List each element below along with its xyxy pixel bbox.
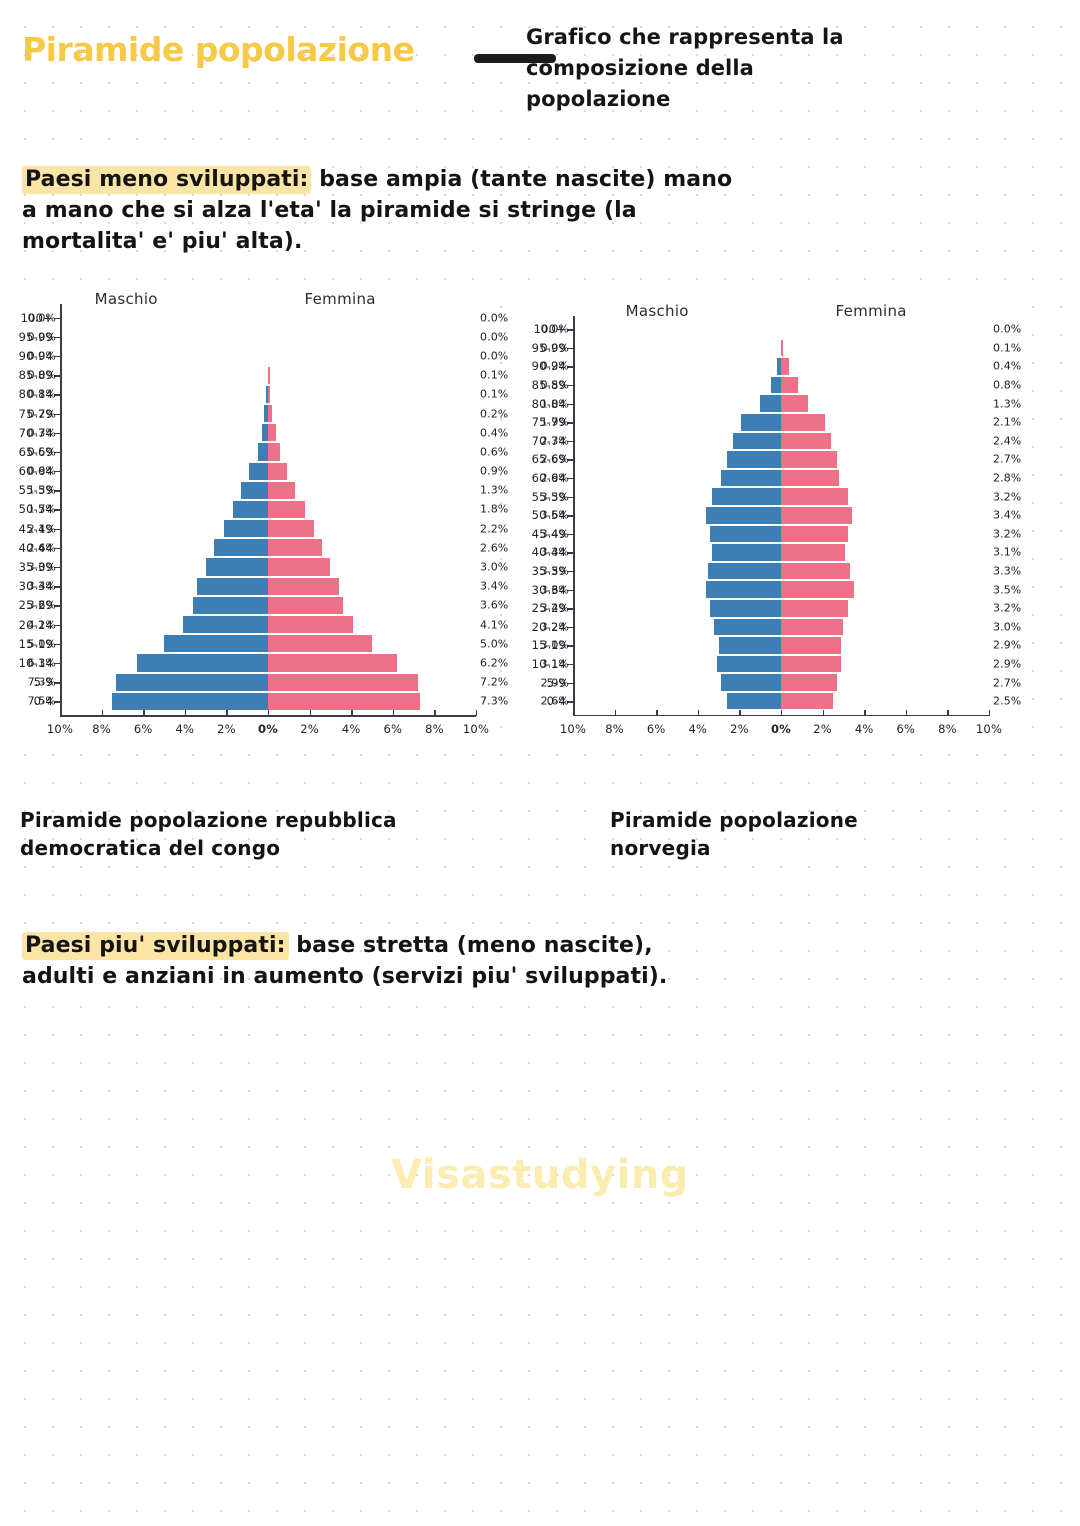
bar-female: 2.1% [781,413,825,432]
female-half: 3.4% [781,506,989,525]
bar-value-label-male: 2.6% [541,695,573,708]
bar-male: 3.0% [206,557,268,576]
bar-value-label-male: 0.0% [541,341,573,354]
female-half: 2.9% [781,655,989,674]
bar-male: 4.1% [183,615,268,634]
bar-value-label-male: 4.1% [28,618,60,631]
x-axis-tick [185,710,186,716]
female-half: 0.1% [781,339,989,358]
bar-value-label-male: 3.4% [541,602,573,615]
pyramid-row: 40-442.6%2.6% [60,538,476,557]
female-half: 0.0% [268,346,476,365]
bar-female: 2.9% [781,636,841,655]
bar-value-label-female: 0.1% [989,341,1021,354]
bar-value-label-female: 3.5% [989,583,1021,596]
female-half: 3.5% [781,580,989,599]
male-half: 0.9% [60,462,268,481]
bar-female: 0.6% [268,442,280,461]
x-axis-tick-label: 4% [855,722,874,736]
bar-female: 7.3% [268,692,420,711]
female-half: 0.1% [268,366,476,385]
x-axis-tick-label: 2% [217,722,236,736]
paragraph-less-developed: Paesi meno sviluppati: base ampia (tante… [22,164,1022,257]
female-half: 0.4% [268,423,476,442]
female-half: 3.2% [781,599,989,618]
bar-value-label-male: 3.3% [541,490,573,503]
female-half: 0.4% [781,357,989,376]
caption-congo: Piramide popolazione repubblica democrat… [20,806,397,862]
x-axis-tick-label: 0% [258,722,278,736]
pyramid-row: 70-740.3%0.4% [60,423,476,442]
bar-value-label-female: 3.2% [989,490,1021,503]
x-axis-tick-label: 8% [92,722,111,736]
header-note: Grafico che rappresenta la composizione … [526,22,996,115]
x-axis-tick [434,710,435,716]
bar-value-label-female: 3.0% [989,620,1021,633]
paragraph-more-developed: Paesi piu' sviluppati: base stretta (men… [22,930,1022,992]
x-axis-tick-label: 4% [342,722,361,736]
male-half: 3.5% [573,562,781,581]
bar-value-label-male: 0.2% [28,407,60,420]
bar-female: 1.3% [268,481,295,500]
male-half: 1.3% [60,481,268,500]
bar-value-label-male: 2.9% [541,472,573,485]
gender-label-female: Femmina [836,302,907,320]
female-half: 1.3% [781,394,989,413]
pyramid-row: 5-92.9%2.7% [573,673,989,692]
pyramid-row: 30-343.4%3.4% [60,577,476,596]
male-half: 3.0% [60,557,268,576]
x-axis-tick-label: 6% [383,722,402,736]
population-pyramid-norway: MaschioFemmina100+0.0%0.0%95-990.0%0.1%9… [513,300,1025,750]
bar-value-label-female: 6.2% [476,656,508,669]
bar-male: 3.4% [197,577,268,596]
bar-male: 7.5% [112,692,268,711]
bar-value-label-male: 2.6% [28,541,60,554]
x-axis-tick-label: 2% [300,722,319,736]
bar-female: 0.1% [268,385,270,404]
female-half: 2.8% [781,469,989,488]
bar-male: 1.3% [241,481,268,500]
bar-value-label-male: 0.0% [28,311,60,324]
bar-value-label-female: 7.3% [476,695,508,708]
bar-value-label-female: 2.8% [989,472,1021,485]
bar-value-label-female: 5.0% [476,637,508,650]
pyramid-row: 20-243.2%3.0% [573,618,989,637]
y-axis-line [573,316,575,715]
bar-female: 0.1% [268,366,270,385]
bar-female: 3.2% [781,487,848,506]
pyramid-rows: 100+0.0%0.0%95-990.0%0.1%90-940.2%0.4%85… [573,320,989,711]
female-half: 1.3% [268,481,476,500]
bar-value-label-male: 5.0% [28,637,60,650]
bar-male: 2.6% [214,538,268,557]
male-half: 0.0% [573,320,781,339]
bar-value-label-male: 6.3% [28,656,60,669]
header: Piramide popolazione Grafico che rappres… [22,14,1062,124]
caption-congo-line-1: Piramide popolazione repubblica [20,806,397,834]
x-axis-tick-label: 6% [647,722,666,736]
x-axis-tick-label: 6% [134,722,153,736]
male-half: 2.3% [573,432,781,451]
bar-value-label-male: 0.0% [28,369,60,382]
x-axis-tick-label: 10% [976,722,1002,736]
bar-male: 3.0% [719,636,781,655]
bar-female: 3.4% [268,577,339,596]
watermark: Visastudying [0,1152,1080,1198]
bar-female: 3.2% [781,599,848,618]
pyramid-row: 30-343.6%3.5% [573,580,989,599]
male-half: 7.3% [60,673,268,692]
male-half: 3.6% [573,580,781,599]
male-half: 1.7% [60,500,268,519]
bar-value-label-female: 2.7% [989,453,1021,466]
bar-female: 0.1% [781,339,783,358]
female-half: 3.4% [268,577,476,596]
bar-female: 0.2% [268,404,272,423]
female-half: 3.0% [268,557,476,576]
pyramid-row: 75-791.9%2.1% [573,413,989,432]
bar-value-label-male: 0.0% [541,323,573,336]
bar-value-label-female: 0.8% [989,379,1021,392]
bar-value-label-female: 0.0% [476,311,508,324]
bar-male: 3.6% [706,506,781,525]
x-axis-tick [351,710,352,716]
bar-male: 0.5% [258,442,268,461]
bar-value-label-female: 0.4% [476,426,508,439]
bar-male: 0.5% [771,376,781,395]
female-half: 2.7% [781,450,989,469]
bar-value-label-female: 4.1% [476,618,508,631]
x-axis-tick-label: 8% [605,722,624,736]
male-half: 4.1% [60,615,268,634]
pyramid-row: 35-393.0%3.0% [60,557,476,576]
bar-female: 1.8% [268,500,305,519]
x-axis-tick [739,710,740,716]
pyramid-row: 90-940.0%0.0% [60,346,476,365]
female-half: 2.5% [781,692,989,711]
bar-value-label-female: 3.4% [989,509,1021,522]
bar-male: 3.3% [712,543,781,562]
male-half: 1.0% [573,394,781,413]
bar-female: 0.9% [268,462,287,481]
bar-male: 3.3% [712,487,781,506]
pyramid-row: 55-593.3%3.2% [573,487,989,506]
x-axis-tick-label: 2% [813,722,832,736]
female-half: 3.1% [781,543,989,562]
female-half: 0.0% [268,308,476,327]
x-axis-tick-label: 2% [730,722,749,736]
bar-value-label-female: 3.2% [989,527,1021,540]
bar-female: 3.2% [781,525,848,544]
pyramid-row: 90-940.2%0.4% [573,357,989,376]
pyramid-row: 100+0.0%0.0% [60,308,476,327]
male-half: 2.9% [573,469,781,488]
less-developed-line-2: a mano che si alza l'eta' la piramide si… [22,195,1022,226]
male-half: 3.4% [60,577,268,596]
bar-value-label-male: 3.5% [541,565,573,578]
bar-value-label-male: 3.0% [541,639,573,652]
bar-value-label-male: 7.5% [28,695,60,708]
female-half: 3.0% [781,618,989,637]
female-half: 2.9% [781,636,989,655]
bar-value-label-male: 3.6% [28,599,60,612]
bar-female: 3.3% [781,562,850,581]
bar-male: 3.6% [706,580,781,599]
bar-male: 7.3% [116,673,268,692]
bar-value-label-female: 0.1% [476,388,508,401]
male-half: 3.3% [573,487,781,506]
female-half: 0.1% [268,385,476,404]
pyramid-row: 100+0.0%0.0% [573,320,989,339]
bar-value-label-male: 0.3% [28,426,60,439]
female-half: 2.7% [781,673,989,692]
pyramid-row: 10-146.3%6.2% [60,653,476,672]
pyramid-row: 95-990.0%0.0% [60,327,476,346]
bar-value-label-male: 0.0% [28,349,60,362]
bar-value-label-male: 0.0% [28,330,60,343]
bar-value-label-male: 3.3% [541,546,573,559]
pyramid-row: 15-195.0%5.0% [60,634,476,653]
bar-female: 0.8% [781,376,798,395]
male-half: 3.6% [573,506,781,525]
bar-value-label-female: 2.5% [989,695,1021,708]
female-half: 3.2% [781,525,989,544]
x-axis-tick [781,710,782,716]
x-axis-tick [573,710,574,716]
less-developed-line-1: Paesi meno sviluppati: base ampia (tante… [22,164,1022,195]
less-developed-line-1-rest: base ampia (tante nascite) mano [311,167,732,192]
bar-value-label-male: 2.3% [541,434,573,447]
x-axis-tick [989,710,990,716]
bar-female: 3.0% [268,557,330,576]
bar-value-label-male: 3.0% [28,561,60,574]
pyramid-row: 85-890.0%0.1% [60,366,476,385]
pyramid-row: 20-244.1%4.1% [60,615,476,634]
male-half: 3.6% [60,596,268,615]
bar-male: 5.0% [164,634,268,653]
x-axis-tick-label: 4% [688,722,707,736]
bar-value-label-male: 2.9% [541,676,573,689]
bar-value-label-female: 3.4% [476,580,508,593]
header-note-line-1: Grafico che rappresenta la [526,22,996,53]
bar-female: 2.7% [781,450,837,469]
bar-female: 1.3% [781,394,808,413]
bar-value-label-male: 1.9% [541,416,573,429]
bar-value-label-female: 2.4% [989,434,1021,447]
pyramid-row: 95-990.0%0.1% [573,339,989,358]
male-half: 0.0% [573,339,781,358]
female-half: 7.3% [268,692,476,711]
pyramid-row: 65-690.5%0.6% [60,442,476,461]
bar-value-label-female: 0.6% [476,445,508,458]
pyramid-row: 50-541.7%1.8% [60,500,476,519]
male-half: 6.3% [60,653,268,672]
x-axis-tick [864,710,865,716]
bar-value-label-male: 2.1% [28,522,60,535]
bar-male: 2.6% [727,450,781,469]
bar-male: 3.1% [717,655,781,674]
male-half: 3.1% [573,655,781,674]
bar-value-label-female: 0.1% [476,369,508,382]
male-half: 3.0% [573,636,781,655]
bar-value-label-female: 1.8% [476,503,508,516]
female-half: 4.1% [268,615,476,634]
x-axis-tick [393,710,394,716]
female-half: 2.1% [781,413,989,432]
less-developed-highlight: Paesi meno sviluppati: [22,166,311,194]
x-axis-tick [268,710,269,716]
bar-female: 7.2% [268,673,418,692]
gender-label-female: Femmina [305,290,376,308]
female-half: 0.2% [268,404,476,423]
bar-value-label-female: 0.0% [476,349,508,362]
x-axis-tick-label: 10% [463,722,489,736]
pyramid-row: 0-42.6%2.5% [573,692,989,711]
female-half: 0.6% [268,442,476,461]
male-half: 0.3% [60,423,268,442]
male-half: 5.0% [60,634,268,653]
x-axis-tick [226,710,227,716]
bar-value-label-male: 0.5% [541,379,573,392]
bar-male: 2.9% [721,673,781,692]
pyramid-row: 70-742.3%2.4% [573,432,989,451]
bar-value-label-male: 2.6% [541,453,573,466]
more-developed-line-1: Paesi piu' sviluppati: base stretta (men… [22,930,1022,961]
bar-female: 2.7% [781,673,837,692]
male-half: 2.9% [573,673,781,692]
bar-value-label-male: 0.2% [541,360,573,373]
bar-female: 2.4% [781,432,831,451]
x-axis-tick [656,710,657,716]
male-half: 2.1% [60,519,268,538]
gender-label-male: Maschio [95,290,158,308]
x-axis-tick-label: 10% [560,722,586,736]
caption-norway: Piramide popolazione norvegia [610,806,858,862]
bar-value-label-female: 0.4% [989,360,1021,373]
bar-value-label-female: 2.2% [476,522,508,535]
male-half: 3.4% [573,525,781,544]
x-axis-tick [310,710,311,716]
x-axis-tick [102,710,103,716]
bar-female: 3.6% [268,596,343,615]
bar-value-label-female: 3.1% [989,546,1021,559]
male-half: 0.2% [60,404,268,423]
bar-male: 3.6% [193,596,268,615]
female-half: 0.0% [268,327,476,346]
bar-value-label-male: 7.3% [28,676,60,689]
bar-female: 4.1% [268,615,353,634]
bar-value-label-male: 3.6% [541,509,573,522]
bar-value-label-female: 2.9% [989,657,1021,670]
bar-female: 5.0% [268,634,372,653]
bar-male: 3.2% [714,618,781,637]
bar-value-label-female: 3.6% [476,599,508,612]
female-half: 2.6% [268,538,476,557]
bar-male: 6.3% [137,653,268,672]
bar-value-label-male: 0.9% [28,465,60,478]
header-note-line-2: composizione della [526,53,996,84]
bar-value-label-male: 1.3% [28,484,60,497]
bar-value-label-female: 1.3% [476,484,508,497]
bar-value-label-male: 3.1% [541,657,573,670]
x-axis-tick [698,710,699,716]
header-note-line-3: popolazione [526,84,996,115]
male-half: 0.5% [573,376,781,395]
pyramid-row: 5-97.3%7.2% [60,673,476,692]
male-half: 0.0% [60,327,268,346]
bar-value-label-female: 3.3% [989,565,1021,578]
bar-female: 3.1% [781,543,845,562]
bar-value-label-female: 0.9% [476,465,508,478]
bar-female: 2.2% [268,519,314,538]
female-half: 3.2% [781,487,989,506]
page-title: Piramide popolazione [22,30,414,69]
x-axis-tick [823,710,824,716]
pyramid-row: 15-193.0%2.9% [573,636,989,655]
x-axis-tick-label: 8% [425,722,444,736]
female-half: 0.9% [268,462,476,481]
male-half: 0.5% [60,442,268,461]
gender-label-male: Maschio [626,302,689,320]
bar-value-label-male: 1.0% [541,397,573,410]
pyramid-rows: 100+0.0%0.0%95-990.0%0.0%90-940.0%0.0%85… [60,308,476,711]
male-half: 0.0% [60,308,268,327]
bar-value-label-male: 1.7% [28,503,60,516]
male-half: 3.4% [573,599,781,618]
bar-value-label-female: 3.2% [989,602,1021,615]
bar-male: 1.9% [741,413,781,432]
population-pyramid-congo: MaschioFemmina100+0.0%0.0%95-990.0%0.0%9… [0,288,494,750]
male-half: 3.2% [573,618,781,637]
y-axis-line [60,304,62,715]
bar-male: 2.6% [727,692,781,711]
chart-norway-plot: MaschioFemmina100+0.0%0.0%95-990.0%0.1%9… [513,300,1025,750]
x-axis-tick [476,710,477,716]
caption-norway-line-2: norvegia [610,834,858,862]
more-developed-line-2: adulti e anziani in aumento (servizi piu… [22,961,1022,992]
pyramid-row: 60-640.9%0.9% [60,462,476,481]
x-axis-tick [143,710,144,716]
x-axis-tick-label: 8% [938,722,957,736]
pyramid-row: 40-443.3%3.1% [573,543,989,562]
x-axis-tick [947,710,948,716]
more-developed-highlight: Paesi piu' sviluppati: [22,932,289,960]
x-axis-tick [615,710,616,716]
x-axis-tick-label: 0% [771,722,791,736]
bar-female: 2.9% [781,655,841,674]
bar-male: 3.4% [710,525,781,544]
bar-value-label-female: 7.2% [476,676,508,689]
male-half: 1.9% [573,413,781,432]
bar-female: 2.5% [781,692,833,711]
bar-value-label-female: 2.7% [989,676,1021,689]
bar-male: 1.0% [760,394,781,413]
pyramid-row: 25-293.6%3.6% [60,596,476,615]
pyramid-row: 85-890.5%0.8% [573,376,989,395]
male-half: 0.0% [60,366,268,385]
male-half: 7.5% [60,692,268,711]
pyramid-row: 45-493.4%3.2% [573,525,989,544]
bar-female: 0.4% [781,357,789,376]
pyramid-row: 25-293.4%3.2% [573,599,989,618]
bar-male: 0.9% [249,462,268,481]
female-half: 2.4% [781,432,989,451]
male-half: 3.3% [573,543,781,562]
bar-male: 3.4% [710,599,781,618]
bar-value-label-female: 0.0% [989,323,1021,336]
less-developed-line-3: mortalita' e' piu' alta). [22,226,1022,257]
